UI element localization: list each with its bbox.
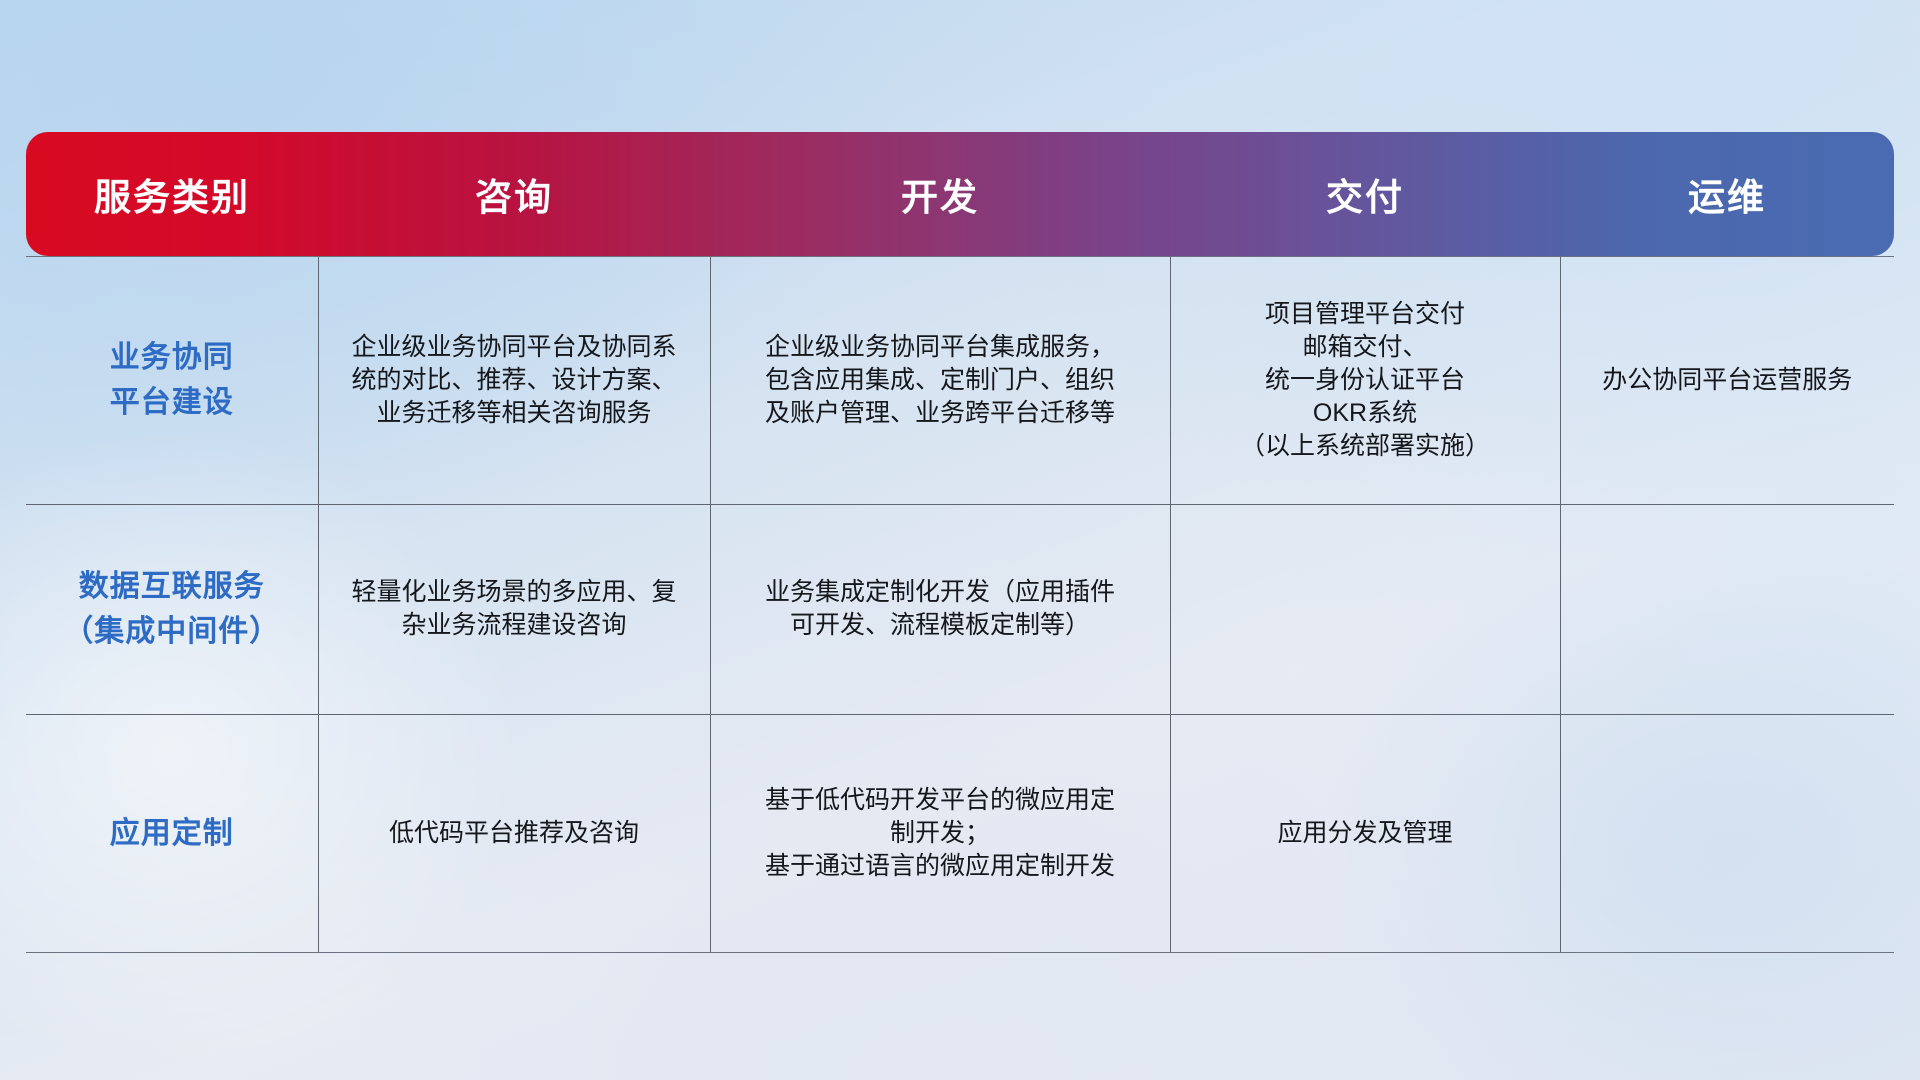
- table-row: 业务协同 平台建设 企业级业务协同平台及协同系 统的对比、推荐、设计方案、 业务…: [26, 256, 1894, 504]
- table-body: 业务协同 平台建设 企业级业务协同平台及协同系 统的对比、推荐、设计方案、 业务…: [26, 256, 1894, 952]
- column-header-development-label: 开发: [901, 177, 979, 218]
- cell-development-2: 业务集成定制化开发（应用插件 可开发、流程模板定制等）: [710, 504, 1170, 714]
- cell-consulting-1: 企业级业务协同平台及协同系 统的对比、推荐、设计方案、 业务迁移等相关咨询服务: [318, 256, 710, 504]
- column-header-category: 服务类别: [26, 132, 318, 256]
- column-header-category-label: 服务类别: [94, 177, 250, 218]
- column-header-consulting-label: 咨询: [475, 177, 553, 218]
- cell-delivery-3: 应用分发及管理: [1170, 714, 1560, 952]
- cell-consulting-2: 轻量化业务场景的多应用、复 杂业务流程建设咨询: [318, 504, 710, 714]
- column-header-operations: 运维: [1560, 132, 1894, 256]
- row-category-2: 数据互联服务 （集成中间件）: [26, 504, 318, 714]
- cell-operations-1: 办公协同平台运营服务: [1560, 256, 1894, 504]
- table-header-row: 服务类别 咨询 开发 交付 运维: [26, 132, 1894, 256]
- column-header-delivery: 交付: [1170, 132, 1560, 256]
- cell-operations-3: [1560, 714, 1894, 952]
- table-header: 服务类别 咨询 开发 交付 运维: [26, 132, 1894, 256]
- cell-consulting-3: 低代码平台推荐及咨询: [318, 714, 710, 952]
- cell-delivery-2: [1170, 504, 1560, 714]
- service-matrix-container: 服务类别 咨询 开发 交付 运维 业务协同 平台建设 企业级业务协同平台及协: [26, 132, 1894, 953]
- cell-development-1: 企业级业务协同平台集成服务， 包含应用集成、定制门户、组织 及账户管理、业务跨平…: [710, 256, 1170, 504]
- column-header-operations-label: 运维: [1688, 177, 1766, 218]
- service-matrix-table: 服务类别 咨询 开发 交付 运维 业务协同 平台建设 企业级业务协同平台及协: [26, 132, 1894, 953]
- cell-operations-2: [1560, 504, 1894, 714]
- column-header-development: 开发: [710, 132, 1170, 256]
- table-row: 数据互联服务 （集成中间件） 轻量化业务场景的多应用、复 杂业务流程建设咨询 业…: [26, 504, 1894, 714]
- row-category-1: 业务协同 平台建设: [26, 256, 318, 504]
- cell-delivery-1: 项目管理平台交付 邮箱交付、 统一身份认证平台 OKR系统 （以上系统部署实施）: [1170, 256, 1560, 504]
- table-row: 应用定制 低代码平台推荐及咨询 基于低代码开发平台的微应用定 制开发； 基于通过…: [26, 714, 1894, 952]
- column-header-delivery-label: 交付: [1326, 177, 1404, 218]
- row-category-3: 应用定制: [26, 714, 318, 952]
- column-header-consulting: 咨询: [318, 132, 710, 256]
- cell-development-3: 基于低代码开发平台的微应用定 制开发； 基于通过语言的微应用定制开发: [710, 714, 1170, 952]
